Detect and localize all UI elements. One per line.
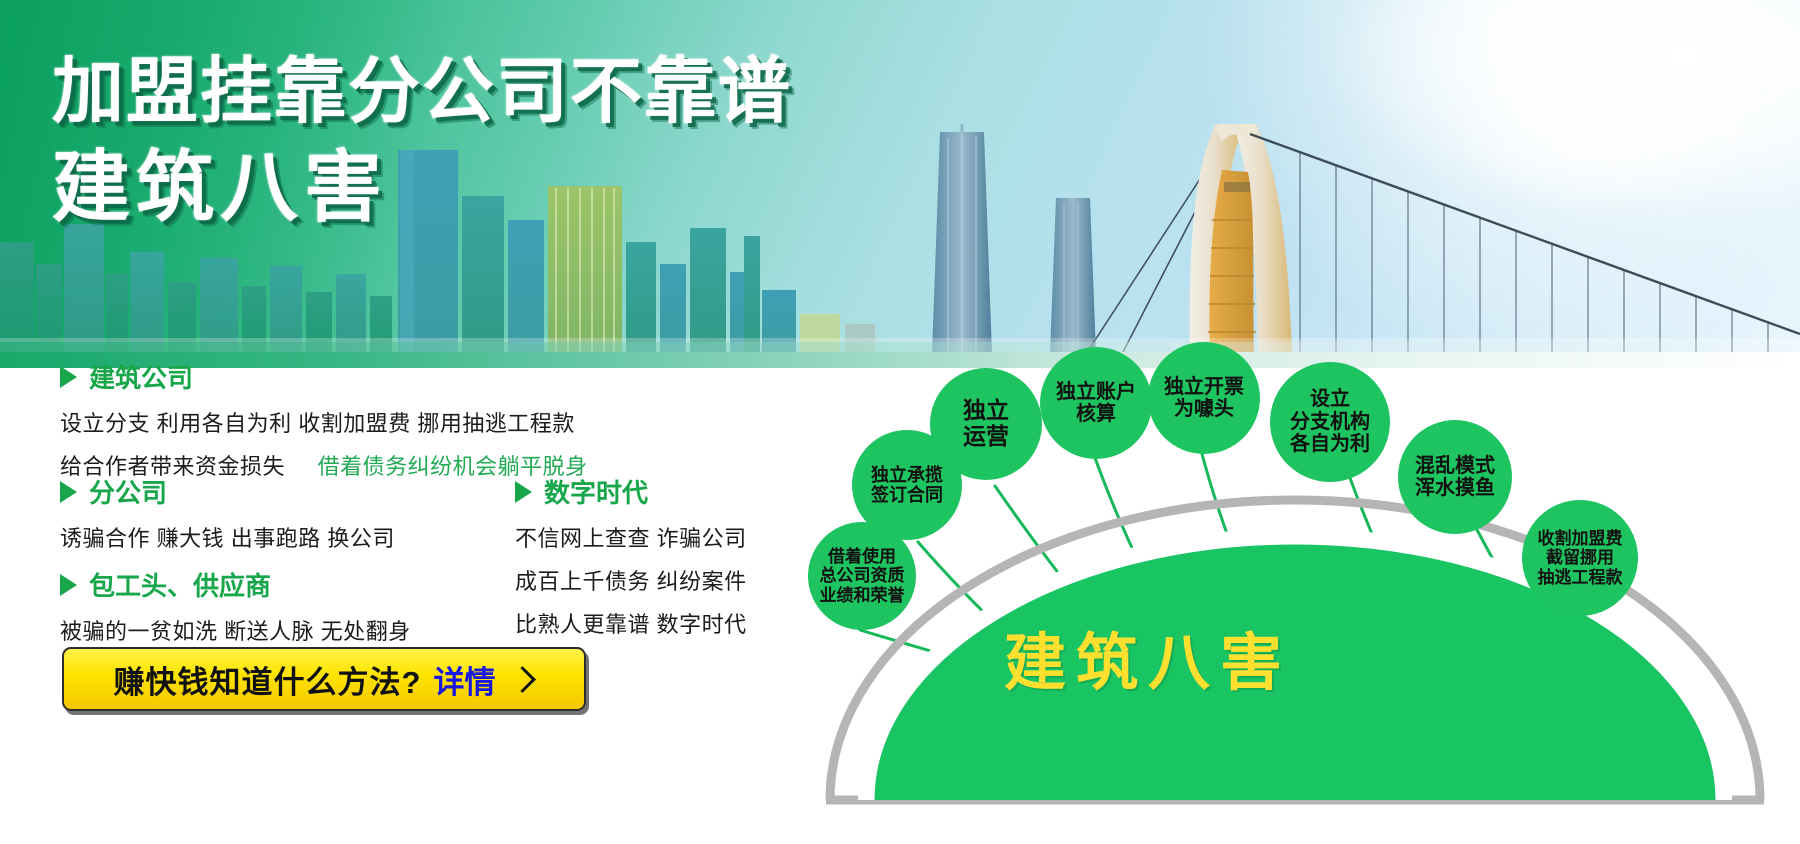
cta-button[interactable]: 赚快钱知道什么方法? 详情 [62, 647, 586, 711]
section-heading-label: 数字时代 [544, 473, 648, 510]
bubble-franchise-fee-harvest[interactable]: 收割加盟费 截留挪用 抽逃工程款 [1522, 500, 1638, 616]
section-heading-digital: 数字时代 [515, 473, 747, 510]
section-line-text: 设立分支 利用各自为利 收割加盟费 挪用抽逃工程款 [60, 411, 575, 436]
bubble-line: 借着使用 [820, 547, 905, 566]
triangle-bullet-icon [60, 574, 77, 596]
bubble-independent-account[interactable]: 独立账户 核算 [1040, 347, 1152, 459]
bubble-line: 独立开票 [1164, 376, 1244, 398]
triangle-bullet-icon [60, 481, 77, 503]
bubble-line: 独立账户 [1056, 381, 1136, 403]
poster-root: 加盟挂靠分公司不靠谱 建筑八害 建筑公司 设立分支 利用各自为利 收割加盟费 挪… [0, 0, 1800, 844]
hero-banner: 加盟挂靠分公司不靠谱 建筑八害 [0, 0, 1800, 368]
bubble-line: 独立 [963, 398, 1009, 424]
hero-title-block: 加盟挂靠分公司不靠谱 建筑八害 [52, 55, 792, 227]
bubble-line: 抽逃工程款 [1538, 568, 1623, 587]
bubble-line: 截留挪用 [1538, 548, 1623, 567]
section-construction-company: 建筑公司 设立分支 利用各自为利 收割加盟费 挪用抽逃工程款 给合作者带来资金损… [60, 358, 588, 481]
section-line: 成百上千债务 纠纷案件 [515, 564, 747, 596]
bubble-line: 独立承揽 [871, 465, 943, 485]
section-line-text: 成百上千债务 纠纷案件 [515, 569, 747, 594]
triangle-bullet-icon [515, 481, 532, 503]
section-line-text: 不信网上查查 诈骗公司 [515, 526, 747, 551]
bubble-line: 核算 [1056, 403, 1136, 425]
left-content-column: 建筑公司 设立分支 利用各自为利 收割加盟费 挪用抽逃工程款 给合作者带来资金损… [0, 368, 790, 844]
bubble-line: 混乱模式 [1415, 455, 1495, 477]
cta-question-label: 赚快钱知道什么方法? [114, 657, 422, 702]
section-digital-era: 数字时代 不信网上查查 诈骗公司 成百上千债务 纠纷案件 比熟人更靠谱 数字时代 [515, 473, 747, 639]
bubble-branch-institution[interactable]: 设立 分支机构 各自为利 [1270, 362, 1390, 482]
radial-diagram: 借着使用 总公司资质 业绩和荣誉 独立承揽 签订合同 独立 运营 独立账户 核算 [790, 330, 1800, 844]
section-branch-company: 分公司 诱骗合作 赚大钱 出事跑路 换公司 [60, 473, 395, 553]
hero-title-line2: 建筑八害 [52, 149, 792, 227]
bubble-independent-invoicing[interactable]: 独立开票 为噱头 [1148, 342, 1260, 454]
section-line: 设立分支 利用各自为利 收割加盟费 挪用抽逃工程款 [60, 406, 588, 438]
bubble-line: 设立 [1290, 388, 1370, 410]
section-heading-construction: 建筑公司 [60, 358, 588, 395]
bubble-line: 浑水摸鱼 [1415, 477, 1495, 499]
section-heading-contractor: 包工头、供应商 [60, 566, 411, 603]
hero-title-line1: 加盟挂靠分公司不靠谱 [52, 55, 792, 127]
cloud-haze-secondary-icon [1440, 40, 1770, 220]
section-line-text: 比熟人更靠谱 数字时代 [515, 612, 747, 637]
bubble-line: 收割加盟费 [1538, 529, 1623, 548]
section-heading-label: 建筑公司 [89, 358, 193, 395]
section-line: 比熟人更靠谱 数字时代 [515, 607, 747, 639]
bubble-line: 分支机构 [1290, 411, 1370, 433]
section-line: 不信网上查查 诈骗公司 [515, 521, 747, 553]
bubble-independent-operation[interactable]: 独立 运营 [930, 368, 1042, 480]
bubble-line: 业绩和荣誉 [820, 586, 905, 605]
bubble-line: 签订合同 [871, 485, 943, 505]
cloud-haze-icon [1320, 0, 1800, 230]
section-line-text: 被骗的一贫如洗 断送人脉 无处翻身 [60, 619, 411, 644]
section-heading-label: 包工头、供应商 [89, 566, 271, 603]
dome-center-label: 建筑八害 [1004, 612, 1292, 702]
section-line: 诱骗合作 赚大钱 出事跑路 换公司 [60, 521, 395, 553]
section-contractor-supplier: 包工头、供应商 被骗的一贫如洗 断送人脉 无处翻身 [60, 566, 411, 646]
cta-detail-link[interactable]: 详情 [433, 657, 495, 702]
section-heading-branch: 分公司 [60, 473, 395, 510]
chevron-right-icon [510, 666, 537, 693]
section-line-text: 诱骗合作 赚大钱 出事跑路 换公司 [60, 526, 395, 551]
bubble-line: 总公司资质 [820, 566, 905, 585]
bubble-chaotic-model[interactable]: 混乱模式 浑水摸鱼 [1398, 420, 1512, 534]
section-heading-label: 分公司 [89, 473, 167, 510]
triangle-bullet-icon [60, 366, 77, 388]
bubble-line: 运营 [963, 424, 1009, 450]
bubble-line: 为噱头 [1164, 398, 1244, 420]
section-line: 被骗的一贫如洗 断送人脉 无处翻身 [60, 614, 411, 646]
bubble-line: 各自为利 [1290, 433, 1370, 455]
